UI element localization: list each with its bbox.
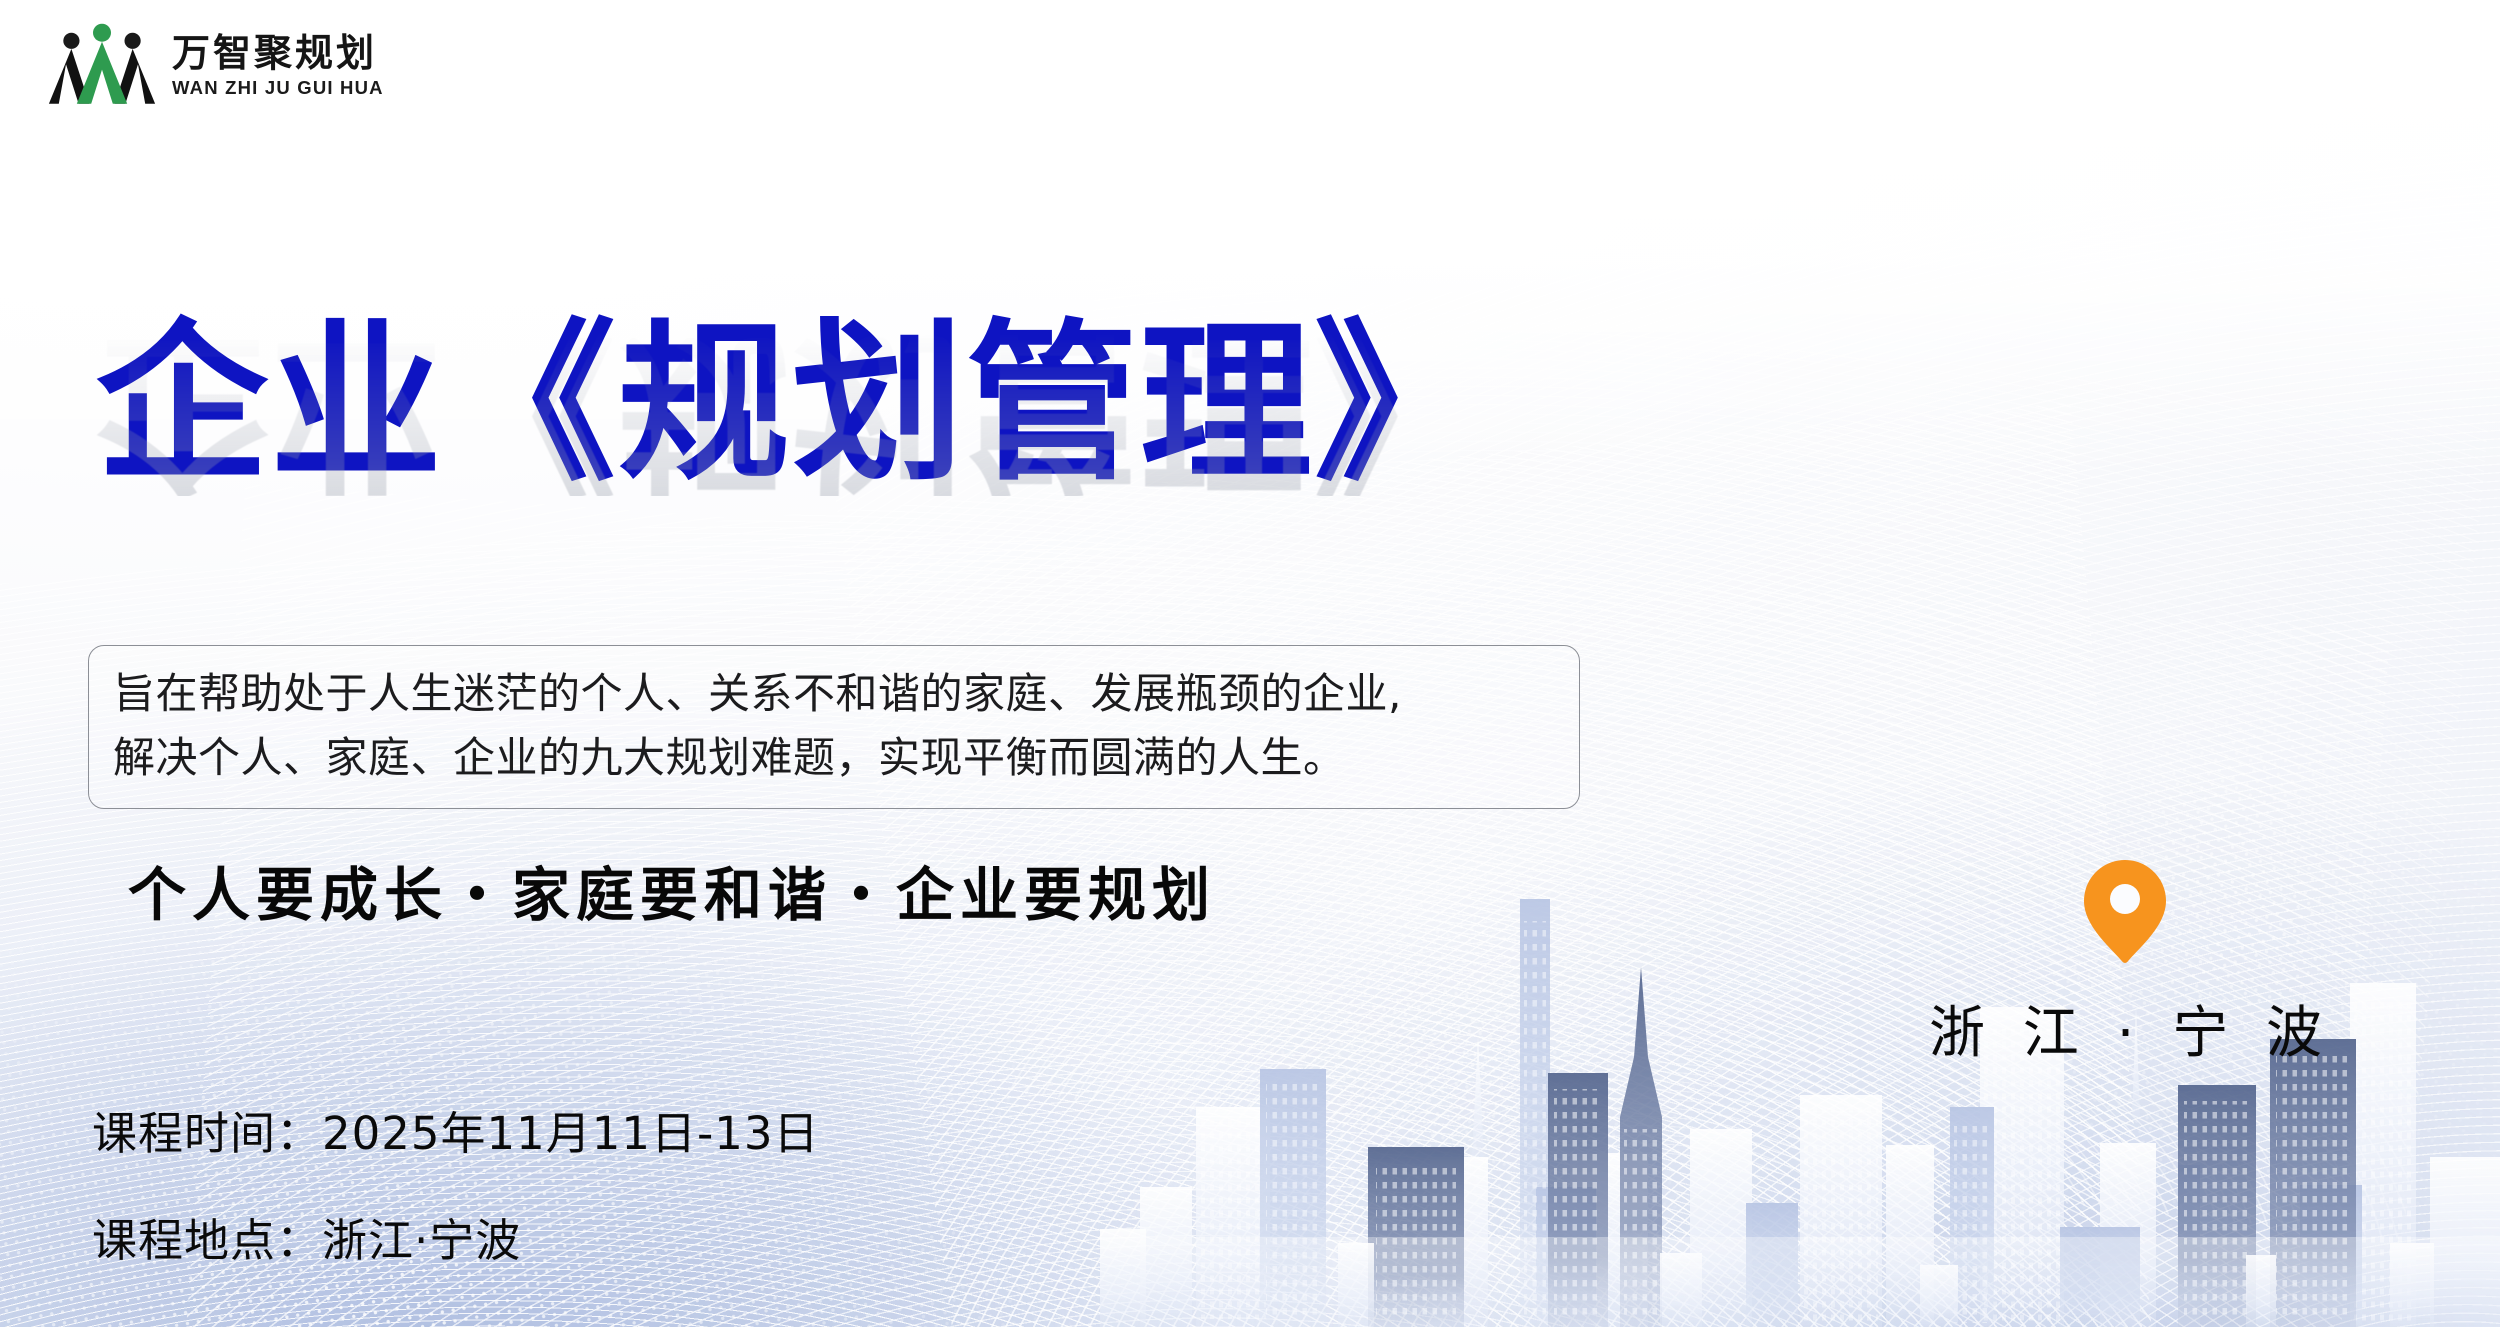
course-time: 课程时间：2025年11月11日-13日 — [92, 1097, 820, 1162]
description-line-2: 解决个人、家庭、企业的九大规划难题，实现平衡而圆满的人生。 — [113, 726, 1553, 790]
course-info-block: 课程时间：2025年11月11日-13日 课程地点：浙江·宁波 — [92, 1097, 820, 1269]
brand-name-en: WAN ZHI JU GUI HUA — [172, 77, 384, 99]
location-label: 浙 江 · 宁 波 — [1919, 988, 2332, 1069]
course-place: 课程地点：浙江·宁波 — [92, 1204, 820, 1269]
brand-name-cn: 万智聚规划 — [172, 33, 384, 73]
promo-banner: 万智聚规划 WAN ZHI JU GUI HUA 企业《规划管理》 企业《规划管… — [0, 0, 2500, 1327]
description-box: 旨在帮助处于人生迷茫的个人、关系不和谐的家庭、发展瓶颈的企业, 解决个人、家庭、… — [88, 645, 1580, 809]
page-title-reflection: 企业《规划管理》 — [96, 324, 1488, 496]
description-line-1: 旨在帮助处于人生迷茫的个人、关系不和谐的家庭、发展瓶颈的企业, — [113, 662, 1553, 726]
hero-title-block: 企业《规划管理》 企业《规划管理》 — [96, 318, 1488, 668]
brand-logo[interactable]: 万智聚规划 WAN ZHI JU GUI HUA — [48, 20, 384, 112]
location-block: 浙 江 · 宁 波 — [1919, 856, 2332, 1069]
slogan-text: 个人要成长・家庭要和谐・企业要规划 — [128, 848, 1216, 932]
three-people-logo-icon — [48, 20, 156, 112]
map-pin-icon — [2082, 856, 2168, 966]
